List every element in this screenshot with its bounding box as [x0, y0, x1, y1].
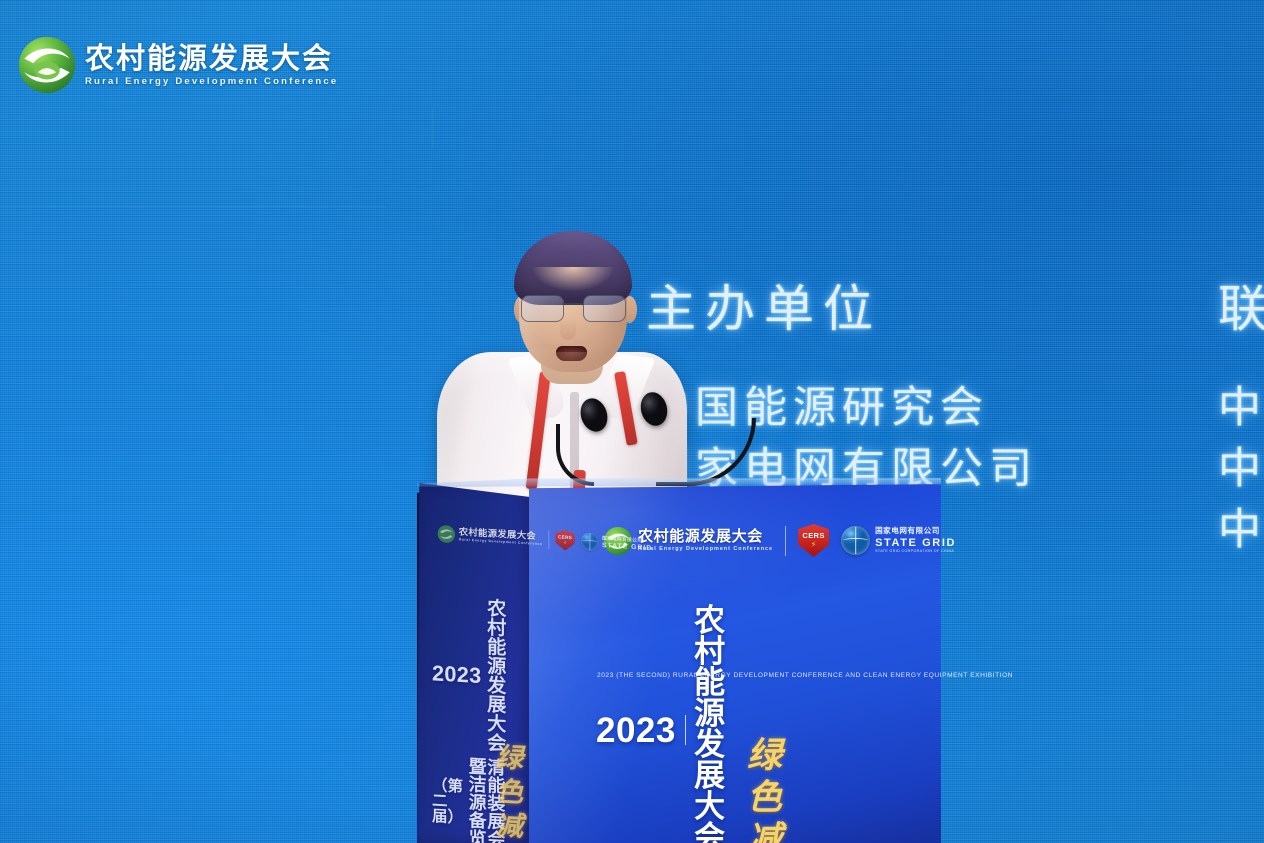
state-grid-name-cn: 国家电网有限公司: [875, 527, 956, 535]
podium-logo-strip: 农村能源发展大会 Rural Energy Development Confer…: [603, 524, 956, 557]
screen-organizer-heading: 主办单位: [646, 284, 1038, 334]
eyeglass-lens-left: [521, 295, 564, 322]
cers-label: CERS: [802, 532, 824, 540]
speaker-nose: [560, 318, 576, 340]
lightning-bolt-icon: ⚡: [563, 540, 566, 545]
wall-seam: [0, 206, 386, 207]
screen-co-organizer-line-2: 中: [1218, 439, 1264, 500]
rural-energy-conference-emblem-icon: [437, 524, 456, 544]
state-grid-logo: 国家电网有限公司 STATE GRID STATE GRID CORPORATI…: [841, 526, 956, 555]
state-grid-logo-side: 国家电网有限公司 STATE GRID: [581, 532, 652, 554]
screen-co-organizer-line-1: 中: [1218, 378, 1264, 439]
podium-subtitle-en: 2023 (THE SECOND) RURAL ENERGY DEVELOPME…: [597, 672, 1013, 679]
state-grid-name-en: STATE GRID: [602, 542, 652, 552]
lightning-bolt-icon: ⚡: [811, 541, 817, 549]
state-grid-subtitle: STATE GRID CORPORATION OF CHINA: [875, 550, 956, 554]
eyeglass-bridge: [562, 303, 583, 305]
watermark-title-cn: 农村能源发展大会: [85, 44, 338, 73]
cers-logo-side: CERS ⚡: [555, 530, 574, 552]
state-grid-globe-icon: [841, 526, 870, 555]
podium-logo-divider: [785, 526, 786, 556]
podium-year: 2023: [596, 713, 676, 748]
state-grid-name-en: STATE GRID: [875, 538, 956, 549]
cers-logo: CERS ⚡: [798, 524, 829, 557]
conference-photo-stage: 主办单位 中国能源研究会 国家电网有限公司 联 中 中 中: [0, 0, 1264, 843]
podium-conference-title-en: Rural Energy Development Conference: [638, 547, 773, 552]
podium-side-logo-divider: [549, 530, 550, 549]
podium-side-edition: （第二届）: [432, 777, 463, 825]
podium-conference-title-cn: 农村能源发展大会: [638, 529, 773, 544]
watermark-title-en: Rural Energy Development Conference: [85, 77, 338, 87]
screen-co-organizer-heading: 联: [1218, 284, 1264, 334]
podium-side-year: 2023: [432, 662, 482, 686]
podium-side-headline-line-1: 农村能源发展大会: [487, 599, 510, 754]
eyeglass-lens-right: [583, 295, 626, 322]
rural-energy-conference-emblem-icon: [18, 36, 76, 94]
state-grid-globe-icon: [581, 532, 599, 551]
podium-headline-line-1: 农村能源发展大会: [694, 606, 733, 843]
podium-gold-calligraphy: 绿色减碳: [736, 736, 787, 843]
podium-side-gold-calligraphy: 绿色减碳: [487, 742, 526, 843]
speaker-chin: [536, 352, 608, 374]
conference-watermark-logo: 农村能源发展大会 Rural Energy Development Confer…: [18, 36, 338, 94]
screen-co-organizer-line-3: 中: [1218, 500, 1264, 561]
podium-headline: 2023 农村能源发展大会 （第二届） 暨清洁能源装备展览会: [596, 606, 733, 843]
wall-seam: [432, 108, 433, 148]
speaker-eyeglasses: [521, 295, 625, 321]
wall-seam: [1096, 0, 1097, 240]
screen-co-organizer-block: 联 中 中 中: [1218, 284, 1264, 561]
